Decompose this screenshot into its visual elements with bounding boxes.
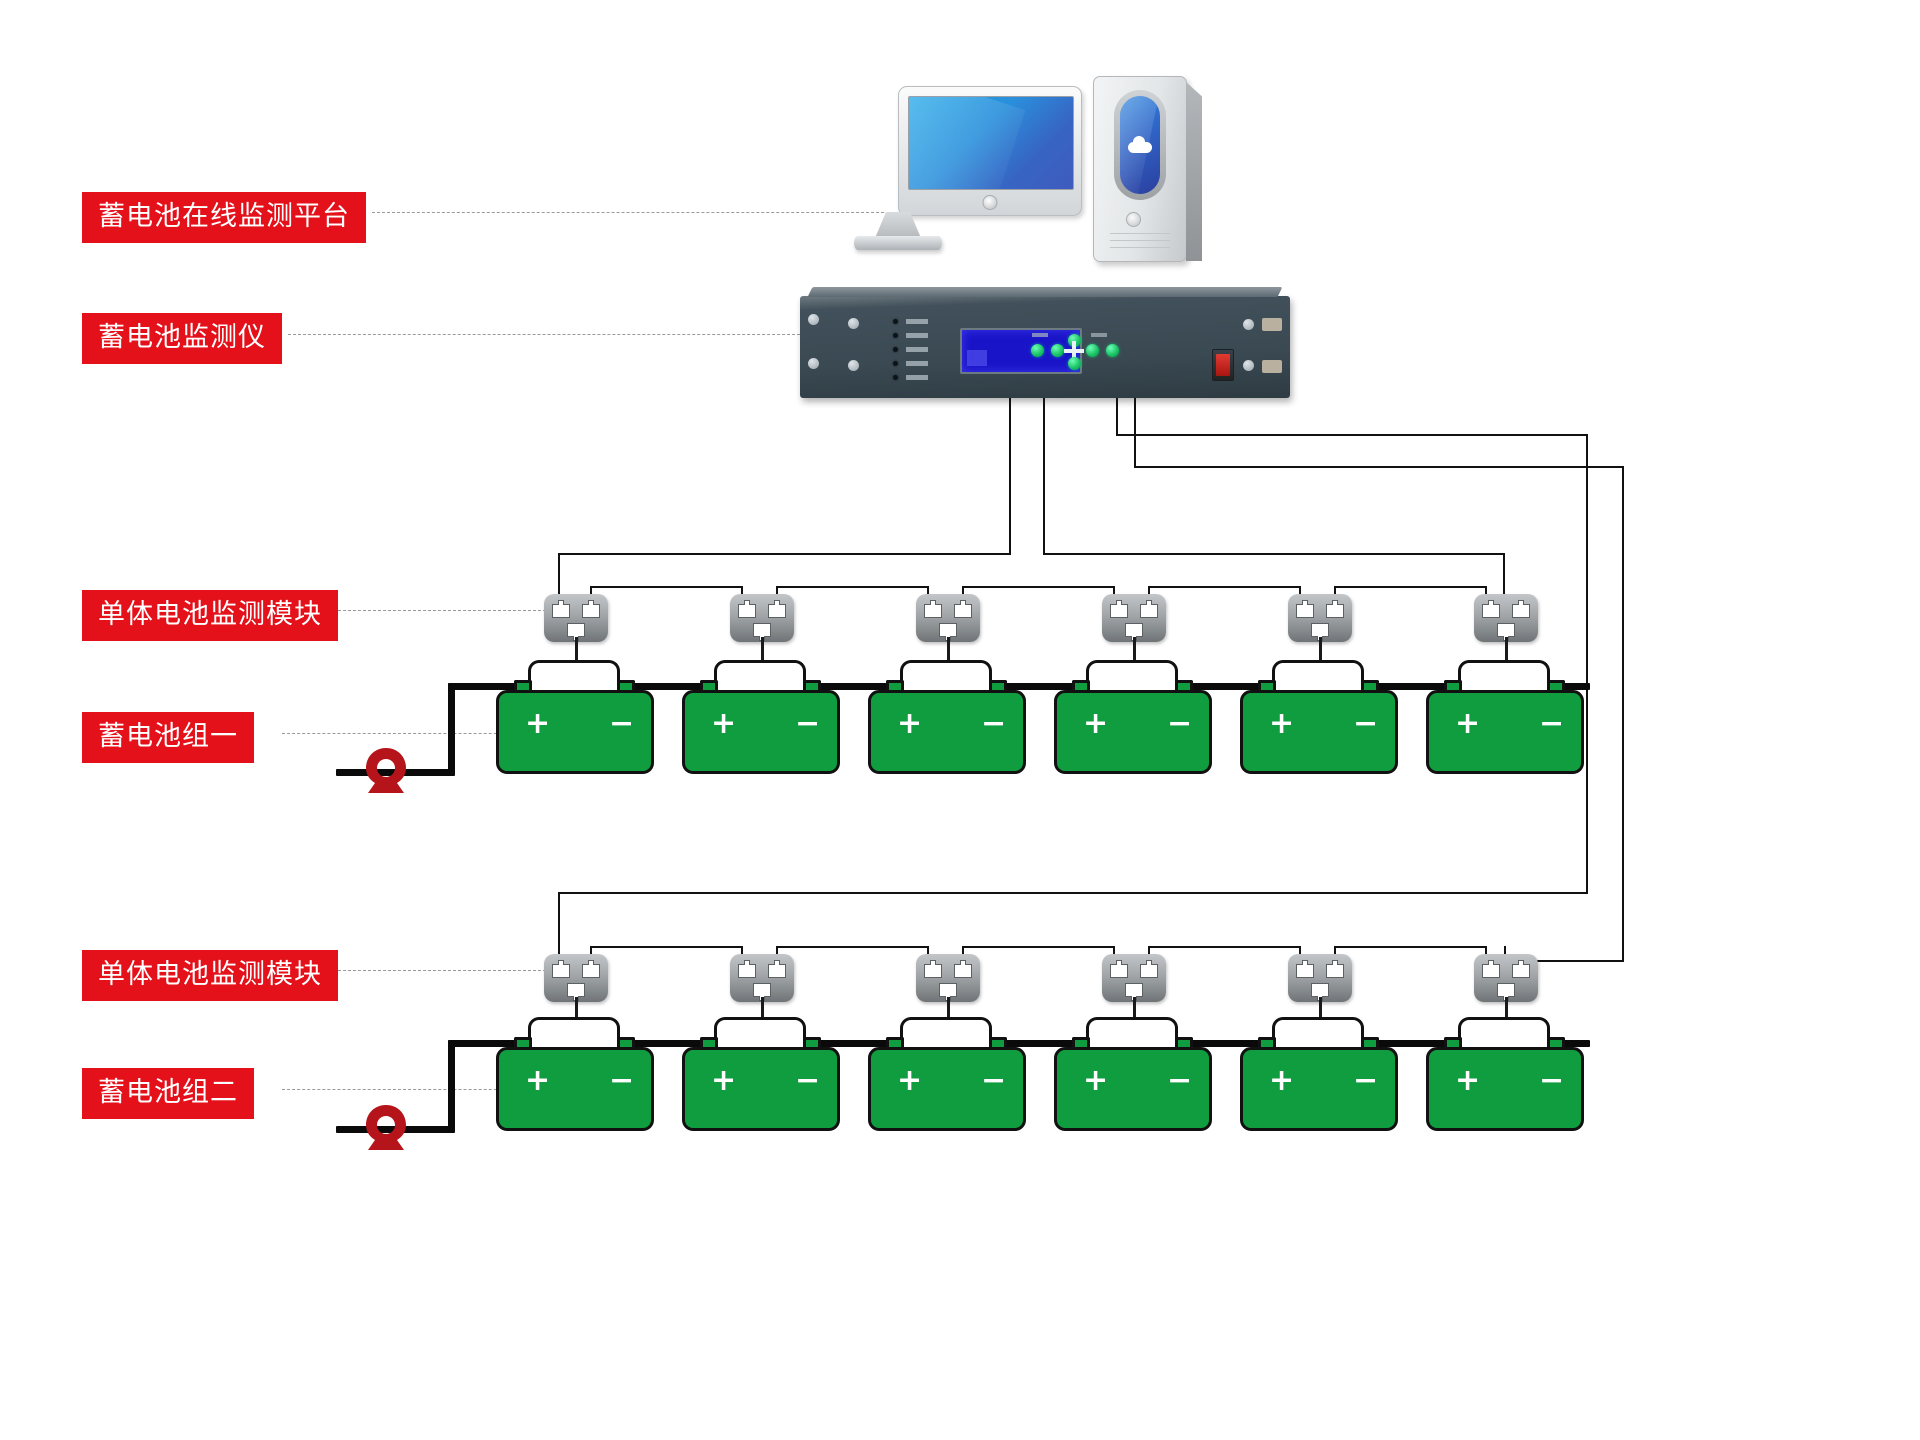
ct-sensor-bank2 xyxy=(364,1104,408,1152)
pc-tower-vent xyxy=(1110,240,1170,241)
leader-line-battery-bank-2 xyxy=(282,1089,522,1090)
bank2-busbar-left-drop xyxy=(448,1040,455,1132)
cloud-icon xyxy=(1128,142,1152,153)
module-port-bottom xyxy=(939,623,957,637)
cell-module-bank2-6[interactable] xyxy=(1474,954,1538,1002)
module-link-bank2-5-6 xyxy=(1334,946,1487,948)
cell-minus-sign: − xyxy=(981,709,1006,739)
trunk-wire-bank2-a-v2 xyxy=(1622,466,1624,962)
pc-tower-front-glass xyxy=(1120,96,1160,194)
keypad-button-down[interactable] xyxy=(1068,357,1081,370)
module-port-top-right xyxy=(1140,604,1158,618)
battery-cell-bank2-4: + − xyxy=(1054,1047,1212,1131)
module-port-top-right xyxy=(768,964,786,978)
cell-plus-sign: + xyxy=(525,709,550,739)
rack-screw xyxy=(1243,319,1254,330)
status-led-label xyxy=(906,319,928,324)
pc-tower xyxy=(1093,76,1187,262)
battery-cell-bank1-4: + − xyxy=(1054,690,1212,774)
cell-cap-bank1-1 xyxy=(528,660,620,694)
monitor-logo-icon xyxy=(983,195,998,210)
trunk-wire-bank2-a-h1 xyxy=(1134,466,1624,468)
battery-cell-bank1-6: + − xyxy=(1426,690,1584,774)
cell-cap-bank2-4 xyxy=(1086,1017,1178,1051)
cell-plus-sign: + xyxy=(1269,1066,1294,1096)
module-port-top-left xyxy=(1482,604,1500,618)
module-link-bank2-1-2 xyxy=(590,946,743,948)
cell-minus-sign: − xyxy=(1353,1066,1378,1096)
cell-module-bank1-1[interactable] xyxy=(544,594,608,642)
cell-cap-bank1-3 xyxy=(900,660,992,694)
module-link-bank1-3-4 xyxy=(962,586,1115,588)
module-port-top-right xyxy=(954,964,972,978)
cell-plus-sign: + xyxy=(1083,709,1108,739)
rack-screw xyxy=(808,314,819,325)
status-led-label xyxy=(906,333,928,338)
trunk-wire-bank2-b-drop xyxy=(558,892,560,962)
cell-minus-sign: − xyxy=(1167,1066,1192,1096)
module-link-bank1-4-5 xyxy=(1148,586,1301,588)
module-port-top-right xyxy=(1326,964,1344,978)
cell-minus-sign: − xyxy=(1353,709,1378,739)
bank1-busbar-left-drop xyxy=(448,683,455,775)
module-port-top-left xyxy=(1482,964,1500,978)
cell-minus-sign: − xyxy=(1539,1066,1564,1096)
trunk-wire-bank2-a-v1 xyxy=(1134,398,1136,466)
cell-minus-sign: − xyxy=(795,1066,820,1096)
status-led xyxy=(893,333,898,338)
cell-plus-sign: + xyxy=(1269,709,1294,739)
cell-cap-bank2-3 xyxy=(900,1017,992,1051)
cell-module-bank2-1[interactable] xyxy=(544,954,608,1002)
battery-cell-bank2-1: + − xyxy=(496,1047,654,1131)
trunk-wire-bank2-b-v1 xyxy=(1116,398,1118,434)
label-cell-module-2: 单体电池监测模块 xyxy=(82,950,338,1001)
cell-module-bank1-2[interactable] xyxy=(730,594,794,642)
trunk-wire-bank2-b-v2 xyxy=(1586,434,1588,894)
module-port-top-right xyxy=(1512,604,1530,618)
cell-cap-bank2-6 xyxy=(1458,1017,1550,1051)
battery-cell-bank2-6: + − xyxy=(1426,1047,1584,1131)
cell-cap-bank2-2 xyxy=(714,1017,806,1051)
leader-line-platform xyxy=(372,212,904,213)
power-switch[interactable] xyxy=(1212,349,1234,381)
cell-plus-sign: + xyxy=(1083,1066,1108,1096)
module-link-bank2-3-4 xyxy=(962,946,1115,948)
leader-line-monitor-unit xyxy=(288,334,810,335)
status-led xyxy=(893,319,898,324)
pc-power-icon[interactable] xyxy=(1126,212,1141,227)
module-link-bank1-1-2 xyxy=(590,586,743,588)
trunk-wire-bank2-b-h1 xyxy=(1116,434,1588,436)
cell-module-bank2-2[interactable] xyxy=(730,954,794,1002)
label-monitor-unit: 蓄电池监测仪 xyxy=(82,313,282,364)
trunk-wire-bank1-a xyxy=(1009,398,1011,555)
status-led xyxy=(893,361,898,366)
cell-plus-sign: + xyxy=(711,1066,736,1096)
battery-cell-bank2-2: + − xyxy=(682,1047,840,1131)
cell-plus-sign: + xyxy=(711,709,736,739)
cell-plus-sign: + xyxy=(897,709,922,739)
module-port-bottom xyxy=(1311,623,1329,637)
power-switch-rocker[interactable] xyxy=(1216,354,1230,376)
label-platform: 蓄电池在线监测平台 xyxy=(82,192,366,243)
leader-line-battery-bank-1 xyxy=(282,733,522,734)
cell-minus-sign: − xyxy=(795,709,820,739)
keypad-label-left xyxy=(1032,333,1048,337)
trunk-wire-bank2-b-h2 xyxy=(558,892,1588,894)
module-port-top-left xyxy=(1110,604,1128,618)
cell-minus-sign: − xyxy=(1539,709,1564,739)
monitor-bezel xyxy=(898,86,1082,216)
ct-sensor-bank1 xyxy=(364,747,408,795)
rack-top-face xyxy=(808,287,1283,297)
pc-tower-vent xyxy=(1110,247,1170,248)
cell-cap-bank2-1 xyxy=(528,1017,620,1051)
trunk-wire-bank1-b-h xyxy=(1043,553,1505,555)
module-port-top-left xyxy=(924,964,942,978)
module-port-top-right xyxy=(1140,964,1158,978)
status-led-label xyxy=(906,347,928,352)
module-port-top-left xyxy=(924,604,942,618)
cell-minus-sign: − xyxy=(1167,709,1192,739)
keypad-button-1[interactable] xyxy=(1031,344,1044,357)
cell-plus-sign: + xyxy=(897,1066,922,1096)
module-port-bottom xyxy=(567,983,585,997)
rack-monitor-unit[interactable] xyxy=(800,296,1290,398)
trunk-wire-bank1-b xyxy=(1043,398,1045,555)
trunk-wire-bank1-a-h xyxy=(558,553,1011,555)
cell-plus-sign: + xyxy=(1455,709,1480,739)
module-port-bottom xyxy=(939,983,957,997)
module-port-top-right xyxy=(582,604,600,618)
rack-screw xyxy=(1243,360,1254,371)
label-cell-module-1: 单体电池监测模块 xyxy=(82,590,338,641)
rack-screw xyxy=(848,360,859,371)
module-link-bank1-2-3 xyxy=(776,586,929,588)
cell-cap-bank1-4 xyxy=(1086,660,1178,694)
module-port-bottom xyxy=(753,623,771,637)
keypad-label-right xyxy=(1091,333,1107,337)
module-port-top-right xyxy=(1326,604,1344,618)
module-port-bottom xyxy=(1125,623,1143,637)
cell-module-bank2-5[interactable] xyxy=(1288,954,1352,1002)
cell-cap-bank1-2 xyxy=(714,660,806,694)
status-led-label xyxy=(906,361,928,366)
module-port-top-left xyxy=(738,604,756,618)
module-port-bottom xyxy=(1311,983,1329,997)
cell-plus-sign: + xyxy=(525,1066,550,1096)
cell-minus-sign: − xyxy=(981,1066,1006,1096)
diagram-canvas: 蓄电池在线监测平台 蓄电池监测仪 单体电池监测模块 蓄电池组一 单体电池监测模块… xyxy=(0,0,1920,1440)
leader-line-cell-module-1 xyxy=(338,610,546,611)
module-port-top-right xyxy=(582,964,600,978)
cell-module-bank1-4[interactable] xyxy=(1102,594,1166,642)
cell-module-bank1-6[interactable] xyxy=(1474,594,1538,642)
label-battery-bank-2: 蓄电池组二 xyxy=(82,1068,254,1119)
module-link-bank2-2-3 xyxy=(776,946,929,948)
battery-cell-bank1-3: + − xyxy=(868,690,1026,774)
cell-cap-bank2-5 xyxy=(1272,1017,1364,1051)
rack-screw xyxy=(848,318,859,329)
module-port-bottom xyxy=(753,983,771,997)
cell-minus-sign: − xyxy=(609,1066,634,1096)
monitor-screen xyxy=(908,96,1074,190)
label-battery-bank-1: 蓄电池组一 xyxy=(82,712,254,763)
module-port-top-right xyxy=(1512,964,1530,978)
module-port-bottom xyxy=(1125,983,1143,997)
module-port-top-left xyxy=(552,604,570,618)
battery-cell-bank2-3: + − xyxy=(868,1047,1026,1131)
cell-module-bank1-5[interactable] xyxy=(1288,594,1352,642)
pc-tower-front-panel xyxy=(1114,90,1166,200)
pc-tower-vent xyxy=(1110,233,1170,234)
module-port-top-left xyxy=(738,964,756,978)
module-port-top-right xyxy=(954,604,972,618)
pc-tower-side-panel xyxy=(1186,82,1202,261)
module-port-bottom xyxy=(567,623,585,637)
cell-cap-bank1-6 xyxy=(1458,660,1550,694)
module-port-top-left xyxy=(552,964,570,978)
module-port-top-right xyxy=(768,604,786,618)
rack-screw xyxy=(808,358,819,369)
module-port-bottom xyxy=(1497,983,1515,997)
cell-cap-bank1-5 xyxy=(1272,660,1364,694)
monitor-stand-base xyxy=(854,236,942,250)
rack-mount-pad xyxy=(1262,318,1282,331)
keypad-button-3[interactable] xyxy=(1086,344,1099,357)
cell-module-bank2-4[interactable] xyxy=(1102,954,1166,1002)
keypad-button-4[interactable] xyxy=(1106,344,1119,357)
module-link-bank2-4-5 xyxy=(1148,946,1301,948)
module-port-top-left xyxy=(1296,964,1314,978)
battery-cell-bank2-5: + − xyxy=(1240,1047,1398,1131)
cell-module-bank2-3[interactable] xyxy=(916,954,980,1002)
module-port-top-left xyxy=(1110,964,1128,978)
battery-cell-bank1-2: + − xyxy=(682,690,840,774)
rack-mount-pad xyxy=(1262,360,1282,373)
cell-minus-sign: − xyxy=(609,709,634,739)
module-port-bottom xyxy=(1497,623,1515,637)
leader-line-cell-module-2 xyxy=(338,970,546,971)
battery-cell-bank1-5: + − xyxy=(1240,690,1398,774)
status-led xyxy=(893,347,898,352)
status-led-label xyxy=(906,375,928,380)
cell-plus-sign: + xyxy=(1455,1066,1480,1096)
module-link-bank1-5-6 xyxy=(1334,586,1487,588)
status-led xyxy=(893,375,898,380)
cell-module-bank1-3[interactable] xyxy=(916,594,980,642)
keypad-button-2[interactable] xyxy=(1051,344,1064,357)
module-port-top-left xyxy=(1296,604,1314,618)
battery-cell-bank1-1: + − xyxy=(496,690,654,774)
